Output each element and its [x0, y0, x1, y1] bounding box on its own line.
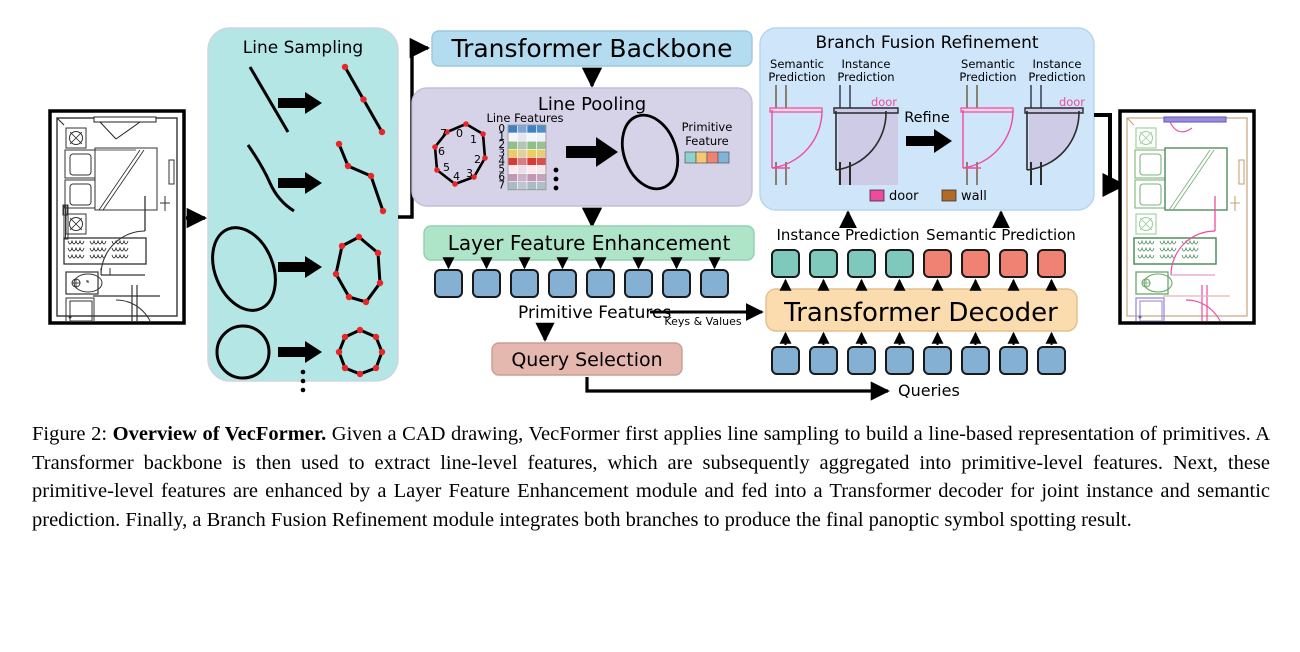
line-feature-cell: [527, 133, 537, 141]
query-token: [1038, 347, 1065, 374]
line-feature-cell: [527, 182, 537, 190]
primitive-feature-cell: [685, 152, 696, 163]
instance-prediction-token: [810, 250, 837, 277]
pooling-vertical-ellipsis: [554, 168, 559, 191]
svg-text:2: 2: [474, 153, 481, 166]
primitive-feature-token: [549, 270, 576, 297]
bfr-door-tag-2: door: [1059, 95, 1085, 109]
figure-caption: Figure 2: Overview of VecFormer. Given a…: [32, 420, 1270, 534]
refine-label: Refine: [904, 110, 950, 126]
semantic-prediction-token: [924, 250, 951, 277]
caption-bold-title: Overview of VecFormer.: [113, 423, 327, 445]
line-feature-cell: [508, 182, 518, 190]
bfr-door-tag-1: door: [871, 95, 897, 109]
line-feature-cell: [508, 157, 518, 165]
line-feature-cell: [508, 125, 518, 133]
primitive-feature-cells: [685, 152, 729, 163]
panel-query-selection: Query Selection: [492, 343, 682, 375]
query-tokens: [772, 333, 1065, 374]
legend-label-wall: wall: [961, 189, 987, 204]
line-feature-cell: [537, 149, 547, 157]
line-feature-cell: [537, 125, 547, 133]
output-cad-drawing: [1120, 111, 1254, 338]
legend-label-door: door: [889, 189, 919, 204]
line-feature-cell: [527, 125, 537, 133]
panel-transformer-backbone: Transformer Backbone: [432, 31, 752, 66]
primitive-features-label: Primitive Features: [518, 303, 672, 323]
bfr-subtitle-line1: Instance: [842, 57, 891, 71]
transformer-decoder-title: Transformer Decoder: [783, 298, 1058, 328]
figure-diagram: Line Sampling: [0, 0, 1300, 410]
query-token: [962, 347, 989, 374]
line-feature-cell: [518, 149, 528, 157]
svg-text:3: 3: [466, 167, 473, 180]
line-feature-cell: [518, 166, 528, 174]
bfr-subtitle-line2: Prediction: [768, 70, 825, 84]
line-feature-cell: [537, 174, 547, 182]
line-feature-cell: [537, 141, 547, 149]
line-feature-cell: [508, 141, 518, 149]
primitive-feature-label-1: Primitive: [682, 120, 733, 134]
input-cad-drawing: [50, 111, 184, 338]
bfr-subtitle-line2: Prediction: [837, 70, 894, 84]
arrow-query-selection-to-queries: [587, 377, 888, 391]
primitive-feature-token: [625, 270, 652, 297]
svg-text:6: 6: [438, 145, 445, 158]
line-feature-cell: [537, 166, 547, 174]
line-feature-cell: [508, 149, 518, 157]
svg-text:4: 4: [453, 170, 460, 183]
panel-line-sampling: Line Sampling: [201, 28, 398, 392]
line-feature-cell: [527, 149, 537, 157]
query-token: [1000, 347, 1027, 374]
line-feature-cell: [527, 141, 537, 149]
line-feature-index: 7: [498, 180, 505, 192]
primitive-feature-token: [473, 270, 500, 297]
panel-transformer-decoder: Transformer Decoder: [766, 289, 1077, 331]
query-token: [848, 347, 875, 374]
line-feature-cell: [518, 182, 528, 190]
line-feature-cell: [537, 182, 547, 190]
line-feature-cell: [508, 133, 518, 141]
line-feature-cell: [518, 174, 528, 182]
svg-text:7: 7: [440, 127, 447, 140]
semantic-prediction-token: [1000, 250, 1027, 277]
primitive-feature-cell: [707, 152, 718, 163]
primitive-feature-label-2: Feature: [685, 134, 728, 148]
svg-text:5: 5: [443, 161, 450, 174]
line-feature-cell: [537, 133, 547, 141]
instance-prediction-label: Instance Prediction: [776, 226, 919, 244]
line-feature-cell: [527, 174, 537, 182]
prediction-tokens: [772, 250, 1065, 287]
line-feature-cell: [518, 125, 528, 133]
query-selection-title: Query Selection: [511, 349, 662, 371]
primitive-feature-token: [511, 270, 538, 297]
bfr-subtitle-line2: Prediction: [959, 70, 1016, 84]
semantic-prediction-token: [1038, 250, 1065, 277]
line-feature-cell: [518, 141, 528, 149]
semantic-prediction-label: Semantic Prediction: [926, 226, 1076, 244]
bfr-subtitle-line1: Semantic: [961, 57, 1015, 71]
line-feature-cell: [527, 157, 537, 165]
legend-swatch-door: [870, 190, 884, 201]
primitive-feature-token: [663, 270, 690, 297]
lfe-title: Layer Feature Enhancement: [448, 231, 731, 255]
primitive-feature-token: [701, 270, 728, 297]
line-feature-cell: [518, 133, 528, 141]
query-token: [810, 347, 837, 374]
legend-swatch-wall: [942, 190, 956, 201]
query-token: [772, 347, 799, 374]
line-feature-cell: [508, 166, 518, 174]
panel-branch-fusion-refinement: Branch Fusion Refinement SemanticPredict…: [760, 28, 1094, 210]
line-sampling-title: Line Sampling: [243, 38, 363, 58]
bfr-subtitle-line2: Prediction: [1028, 70, 1085, 84]
query-token: [886, 347, 913, 374]
bfr-title: Branch Fusion Refinement: [815, 33, 1038, 53]
panel-line-pooling: Line Pooling 01 23 45 67 Line Features 0…: [412, 88, 752, 206]
bfr-subtitle-line1: Instance: [1033, 57, 1082, 71]
query-token: [924, 347, 951, 374]
transformer-backbone-title: Transformer Backbone: [450, 34, 732, 63]
primitive-feature-token: [435, 270, 462, 297]
sampling-vertical-ellipsis: [301, 370, 306, 393]
primitive-feature-tokens: [435, 259, 728, 297]
svg-text:1: 1: [470, 133, 477, 146]
instance-prediction-token: [848, 250, 875, 277]
primitive-feature-cell: [718, 152, 729, 163]
svg-text:0: 0: [456, 127, 463, 140]
instance-prediction-token: [886, 250, 913, 277]
primitive-feature-token: [587, 270, 614, 297]
semantic-prediction-token: [962, 250, 989, 277]
bfr-subtitle-line1: Semantic: [770, 57, 824, 71]
panel-layer-feature-enhancement: Layer Feature Enhancement: [424, 226, 754, 260]
line-feature-cell: [537, 157, 547, 165]
line-feature-cell: [518, 157, 528, 165]
queries-label: Queries: [898, 381, 960, 400]
keys-and-values-label: Keys & Values: [664, 315, 741, 328]
caption-figure-number: Figure 2:: [32, 423, 113, 445]
primitive-feature-cell: [696, 152, 707, 163]
instance-prediction-token: [772, 250, 799, 277]
line-feature-cell: [508, 174, 518, 182]
line-feature-cell: [527, 166, 537, 174]
